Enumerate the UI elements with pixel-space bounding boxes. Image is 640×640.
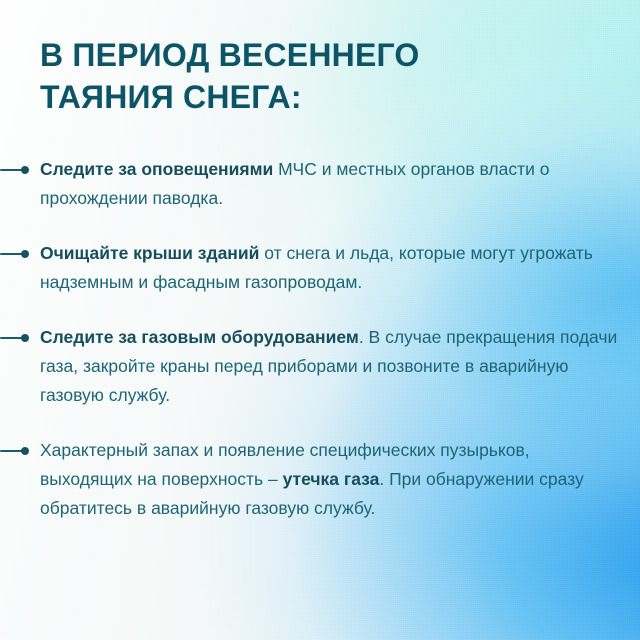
list-item-text: Характерный запах и появление специфичес… — [40, 436, 622, 523]
marker-dot-icon — [21, 334, 29, 342]
advice-list: Следите за оповещениями МЧС и местных ор… — [0, 155, 640, 523]
marker-dot-icon — [21, 250, 29, 258]
marker-dash-icon — [0, 337, 23, 339]
marker-dot-icon — [21, 447, 29, 455]
dash-dot-marker-icon — [0, 447, 30, 455]
marker-dash-icon — [0, 169, 23, 171]
list-item-emphasis: Очищайте крыши зданий — [40, 243, 259, 263]
dash-dot-marker-icon — [0, 166, 30, 174]
list-item: Следите за оповещениями МЧС и местных ор… — [0, 155, 640, 213]
marker-dot-icon — [21, 166, 29, 174]
list-item: Характерный запах и появление специфичес… — [0, 436, 640, 523]
list-item-text: Следите за оповещениями МЧС и местных ор… — [40, 155, 622, 213]
dash-dot-marker-icon — [0, 250, 30, 258]
list-item: Следите за газовым оборудованием. В случ… — [0, 323, 640, 410]
marker-dash-icon — [0, 253, 23, 255]
poster-canvas: В ПЕРИОД ВЕСЕННЕГО ТАЯНИЯ СНЕГА: Следите… — [0, 0, 640, 640]
list-item-emphasis: утечка газа — [283, 469, 380, 489]
dash-dot-marker-icon — [0, 334, 30, 342]
list-item-text: Следите за газовым оборудованием. В случ… — [40, 323, 622, 410]
marker-dash-icon — [0, 450, 23, 452]
list-item: Очищайте крыши зданий от снега и льда, к… — [0, 239, 640, 297]
page-title: В ПЕРИОД ВЕСЕННЕГО ТАЯНИЯ СНЕГА: — [40, 34, 580, 118]
list-item-text: Очищайте крыши зданий от снега и льда, к… — [40, 239, 622, 297]
list-item-emphasis: Следите за оповещениями — [40, 159, 273, 179]
list-item-emphasis: Следите за газовым оборудованием — [40, 327, 359, 347]
